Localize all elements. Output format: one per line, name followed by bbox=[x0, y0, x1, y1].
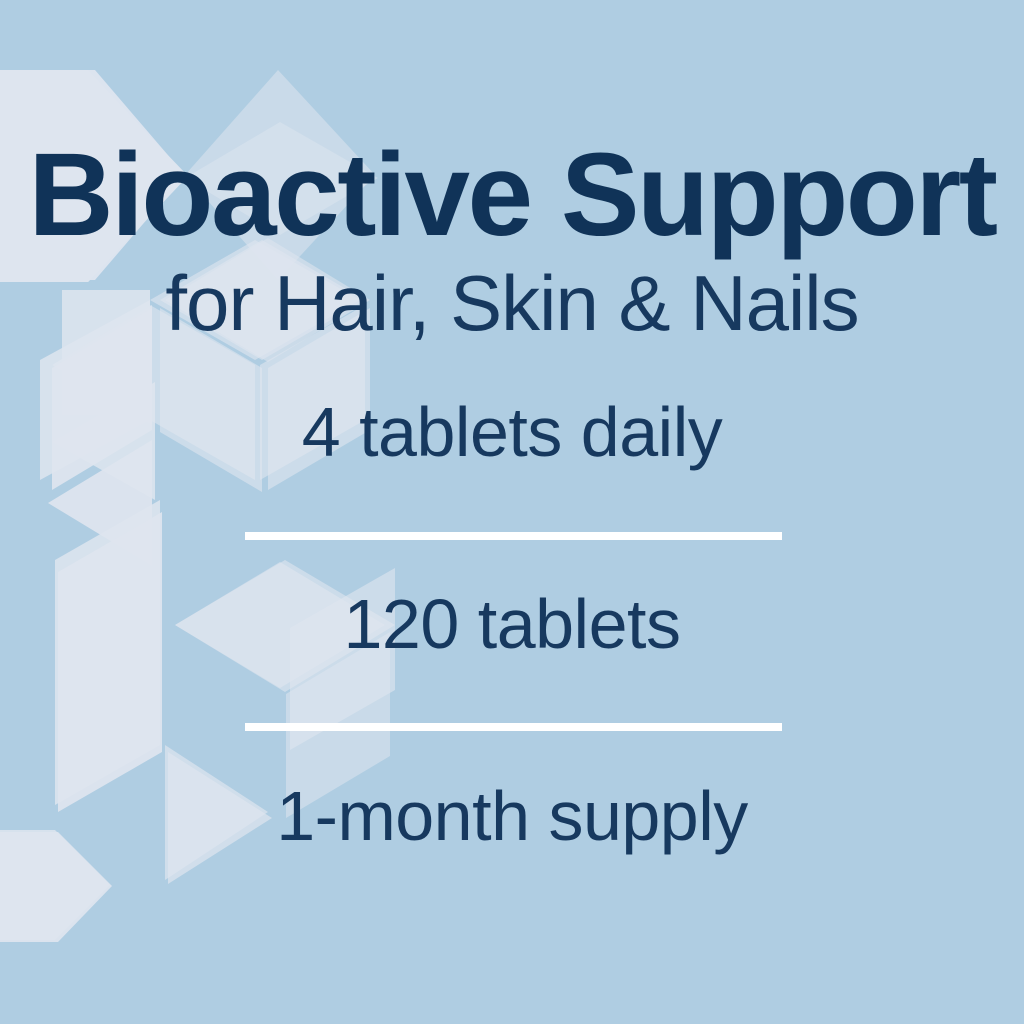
divider-2 bbox=[245, 723, 782, 731]
spec-count: 120 tablets bbox=[0, 589, 1024, 659]
page-subtitle: for Hair, Skin & Nails bbox=[0, 264, 1024, 342]
divider-1 bbox=[245, 532, 782, 540]
page-title: Bioactive Support bbox=[0, 136, 1024, 254]
product-feature-panel: Bioactive Support for Hair, Skin & Nails… bbox=[0, 0, 1024, 1024]
spec-supply: 1-month supply bbox=[0, 781, 1024, 851]
spec-dosage: 4 tablets daily bbox=[0, 397, 1024, 467]
